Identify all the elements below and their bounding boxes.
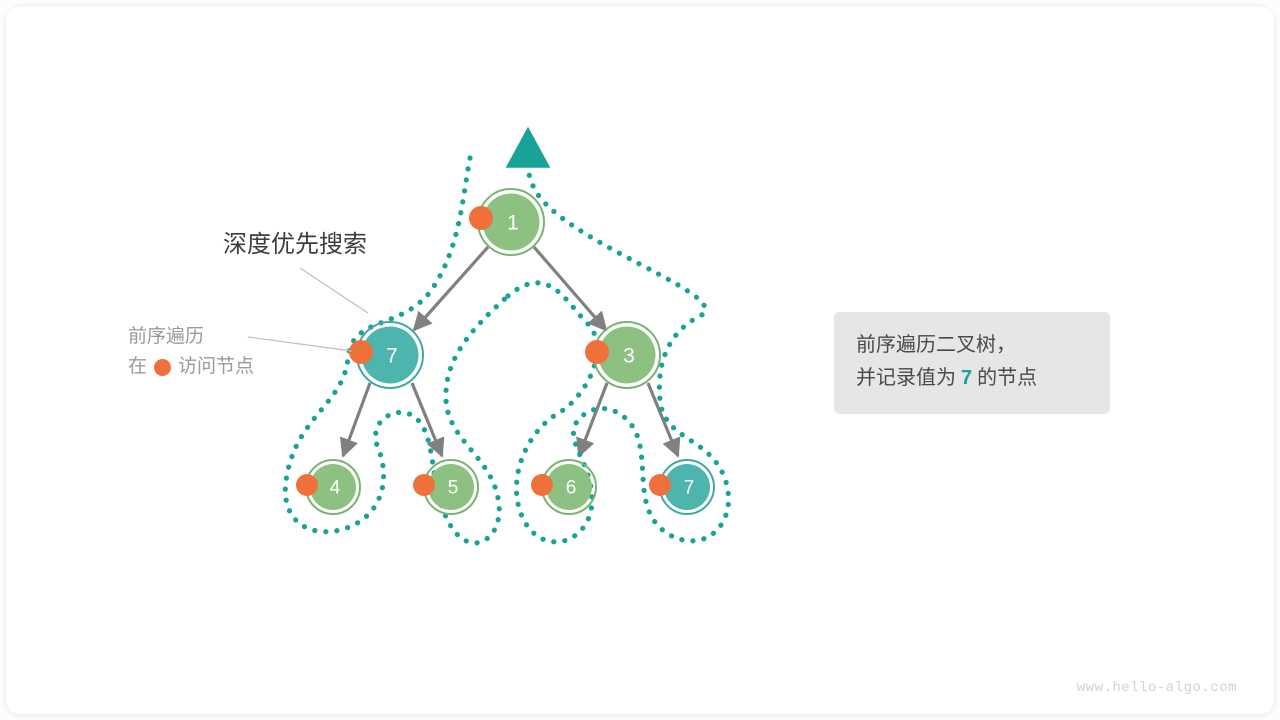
leader-line-legend <box>248 337 352 351</box>
edge-7-to-4 <box>343 383 370 456</box>
legend-suffix: 访问节点 <box>178 352 254 382</box>
tree-node-label: 7 <box>684 478 695 499</box>
info-box-line-2: 并记录值为7的节点 <box>856 362 1088 395</box>
label-leader-lines <box>248 268 368 351</box>
info-box-suffix: 的节点 <box>977 367 1037 389</box>
visit-marker-icon <box>154 359 171 376</box>
edge-1-to-3 <box>534 247 606 330</box>
tree-node-label: 1 <box>507 212 519 235</box>
tree-node-4[interactable]: 4 <box>296 460 360 514</box>
legend: 前序遍历 在 访问节点 <box>128 322 254 382</box>
watermark: www.hello-algo.com <box>1077 680 1237 696</box>
visit-marker-icon <box>469 206 493 230</box>
edge-3-to-6 <box>579 383 607 456</box>
legend-line-2: 在 访问节点 <box>128 352 254 382</box>
diagram-canvas: 1 7 3 4 <box>0 0 1280 720</box>
visit-marker-icon <box>649 474 671 496</box>
edge-1-to-7 <box>414 247 488 330</box>
edge-3-to-7 <box>648 383 678 456</box>
tree-node-5[interactable]: 5 <box>413 460 478 514</box>
info-box-prefix: 并记录值为 <box>856 367 956 389</box>
leader-line-title <box>300 268 368 313</box>
visit-marker-icon <box>349 340 373 364</box>
info-box-highlight-value: 7 <box>956 367 977 389</box>
info-box: 前序遍历二叉树， 并记录值为7的节点 <box>834 312 1110 414</box>
tree-node-label: 5 <box>448 478 459 499</box>
visit-marker-icon <box>531 474 553 496</box>
legend-prefix: 在 <box>128 352 147 382</box>
tree-node-label: 4 <box>330 478 341 499</box>
tree-node-6[interactable]: 6 <box>531 460 596 514</box>
tree-node-label: 3 <box>623 345 635 368</box>
visit-marker-icon <box>585 340 609 364</box>
tree-node-7-leaf[interactable]: 7 <box>649 460 714 514</box>
legend-line-1: 前序遍历 <box>128 322 254 352</box>
visit-marker-icon <box>413 474 435 496</box>
info-box-line-1: 前序遍历二叉树， <box>856 329 1088 362</box>
visit-marker-icon <box>296 474 318 496</box>
edge-7-to-5 <box>412 383 442 456</box>
page-title: 深度优先搜索 <box>223 224 367 259</box>
tree-node-1[interactable]: 1 <box>469 189 544 255</box>
tree-node-label: 6 <box>566 478 577 499</box>
tree-node-label: 7 <box>386 345 398 368</box>
